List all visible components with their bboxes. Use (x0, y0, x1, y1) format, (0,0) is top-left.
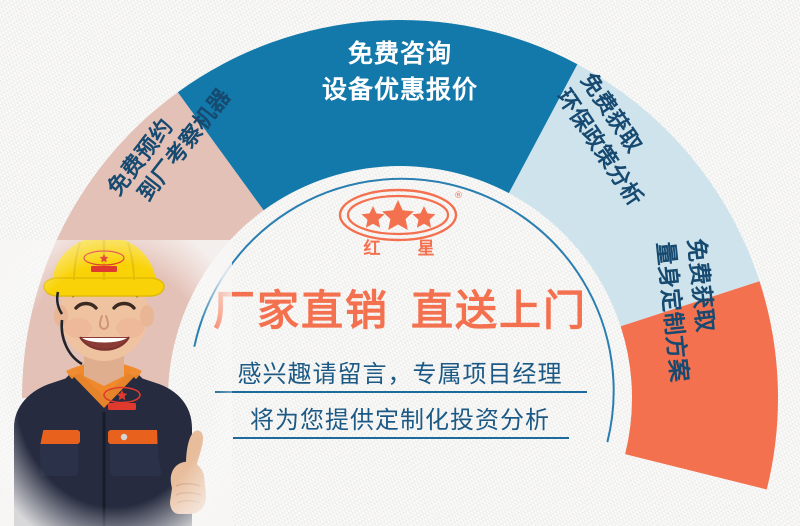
worker-button-right (121, 434, 127, 440)
headline-left: 厂家直销 (213, 286, 389, 335)
star-icon (382, 200, 414, 230)
subline-1-rule (215, 391, 587, 393)
logo-brand-right: 星 (418, 239, 435, 259)
arc-label-free-consult[interactable]: 免费咨询 设备优惠报价 (300, 36, 500, 109)
banner-canvas: 免费预约 到厂考察机器 免费咨询 设备优惠报价 免费获取 环保政策分析 免费获取… (0, 0, 800, 526)
arc-label-line: 免费咨询 (300, 36, 500, 72)
logo-brand-left: 红 (364, 238, 381, 259)
smiling-worker-thumbs-up (0, 240, 232, 526)
star-icon (362, 206, 385, 228)
arc-label-line: 设备优惠报价 (300, 72, 500, 108)
registered-mark: ® (454, 191, 463, 201)
headline-right: 直送上门 (411, 286, 587, 335)
hongxing-logo: ® 红 星 (336, 184, 466, 262)
subline-2-rule (233, 437, 569, 439)
subline-1: 感兴趣请留言，专属项目经理 (200, 354, 600, 389)
star-icon (413, 206, 436, 228)
subline-2: 将为您提供定制化投资分析 (200, 400, 600, 435)
worker-pocket-flap-right (108, 430, 164, 444)
headline: 厂家直销直送上门 (190, 277, 610, 338)
